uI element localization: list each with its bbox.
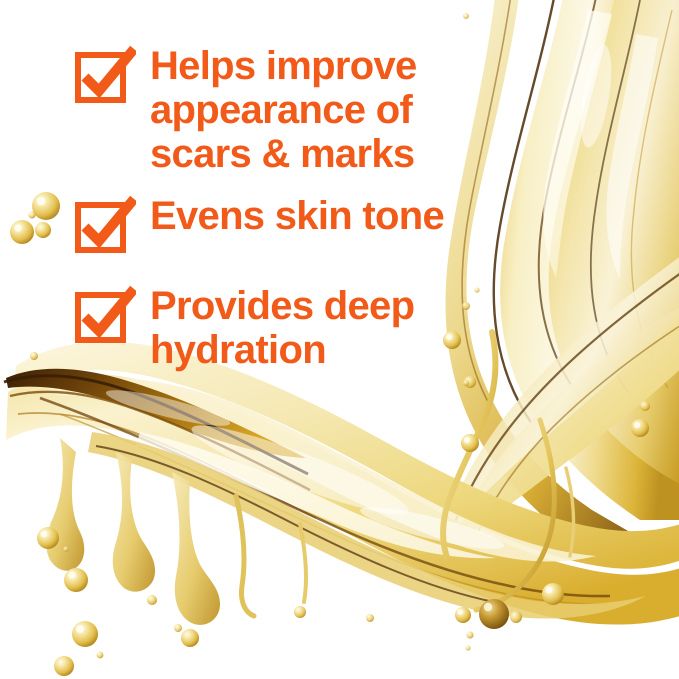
benefit-label-2: Provides deep hydration bbox=[150, 284, 414, 372]
benefit-label-1: Evens skin tone bbox=[150, 194, 444, 238]
benefits-list: Helps improve appearance of scars & mark… bbox=[0, 0, 679, 679]
checkbox-checked-icon bbox=[74, 286, 136, 344]
benefit-label-0: Helps improve appearance of scars & mark… bbox=[150, 44, 417, 176]
benefit-item-1: Evens skin tone bbox=[74, 194, 444, 254]
checkbox-checked-icon bbox=[74, 196, 136, 254]
checkbox-checked-icon bbox=[74, 46, 136, 104]
product-benefits-graphic: Helps improve appearance of scars & mark… bbox=[0, 0, 679, 679]
benefit-item-2: Provides deep hydration bbox=[74, 284, 414, 372]
benefit-item-0: Helps improve appearance of scars & mark… bbox=[74, 44, 417, 176]
